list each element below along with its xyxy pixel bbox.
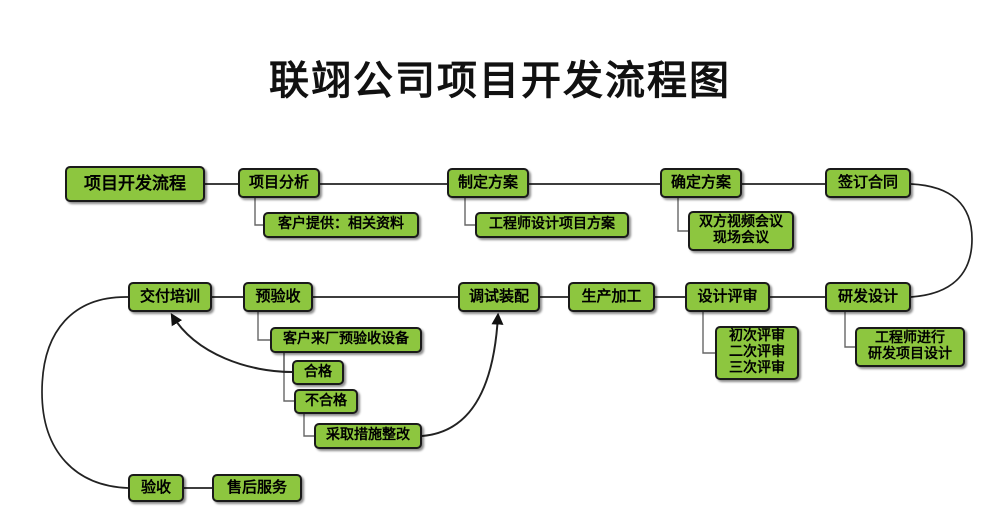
edge-n3-n3a — [465, 198, 475, 225]
edge-n10d-n9 — [422, 315, 498, 436]
edge-n10a-n10b — [284, 353, 292, 372]
node-client-onsite-pre-acceptance[interactable]: 客户来厂预验收设备 — [270, 327, 422, 353]
node-design-review[interactable]: 设计评审 — [685, 282, 770, 312]
node-acceptance[interactable]: 验收 — [128, 474, 184, 502]
node-pre-acceptance[interactable]: 预验收 — [243, 282, 313, 312]
edge-n7-n7a — [703, 312, 715, 353]
node-project-analysis[interactable]: 项目分析 — [238, 168, 320, 198]
node-debug-assembly[interactable]: 调试装配 — [458, 282, 540, 312]
node-qualified[interactable]: 合格 — [292, 360, 344, 385]
node-delivery-training[interactable]: 交付培训 — [128, 282, 212, 312]
node-after-sales-service[interactable]: 售后服务 — [212, 474, 302, 502]
edge-n2-n2a — [255, 198, 263, 225]
node-sign-contract[interactable]: 签订合同 — [825, 168, 911, 198]
node-draft-plan[interactable]: 制定方案 — [447, 168, 529, 198]
node-client-provides-materials[interactable]: 客户提供：相关资料 — [263, 212, 419, 238]
node-review-rounds[interactable]: 初次评审 二次评审 三次评审 — [715, 326, 799, 380]
node-video-and-onsite-meeting[interactable]: 双方视频会议 现场会议 — [688, 211, 794, 251]
edge-n10-n10a — [258, 312, 270, 340]
flowchart-canvas: 联翊公司项目开发流程图 — [0, 0, 1000, 532]
node-production-processing[interactable]: 生产加工 — [568, 282, 655, 312]
node-engineer-designs-plan[interactable]: 工程师设计项目方案 — [475, 212, 629, 238]
node-engineer-rnd-project-design[interactable]: 工程师进行 研发项目设计 — [855, 327, 965, 367]
node-take-corrective-measures[interactable]: 采取措施整改 — [314, 423, 422, 449]
node-confirm-plan[interactable]: 确定方案 — [660, 168, 742, 198]
edge-n11-n12 — [42, 297, 128, 488]
edge-n10c-n10d — [304, 414, 314, 436]
edge-n5-n6 — [911, 184, 972, 297]
node-unqualified[interactable]: 不合格 — [294, 389, 358, 414]
page-title: 联翊公司项目开发流程图 — [0, 48, 1000, 106]
node-project-development-process[interactable]: 项目开发流程 — [65, 166, 205, 202]
edge-n4-n4a — [678, 198, 688, 231]
edge-n6-n6a — [845, 312, 855, 347]
node-rnd-design[interactable]: 研发设计 — [825, 282, 911, 312]
